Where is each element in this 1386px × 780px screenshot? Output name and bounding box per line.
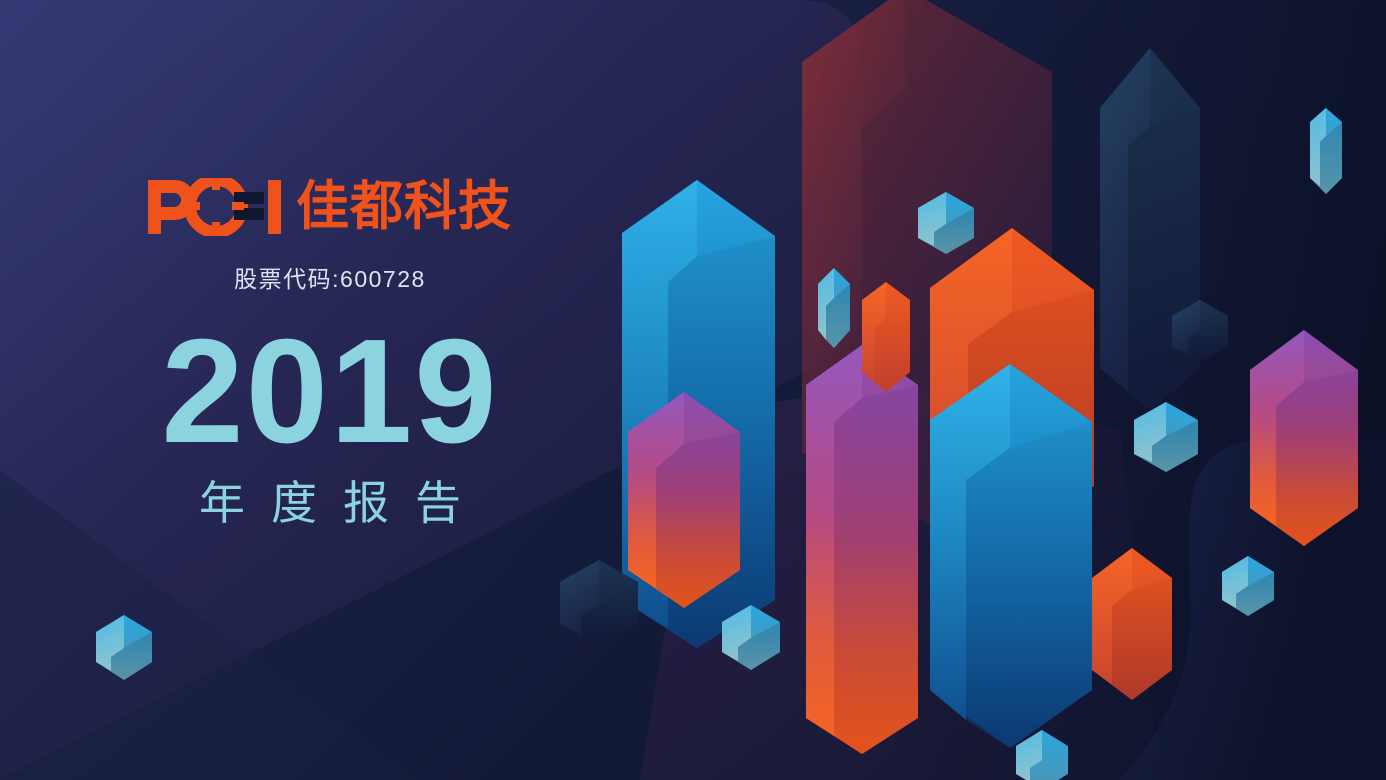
report-year: 2019 — [0, 316, 660, 468]
cover-text-block: 佳都科技 股票代码:600728 2019 年度报告 — [0, 176, 660, 530]
hex-prism-purple-orange-2 — [806, 345, 918, 754]
brand-logo: 佳都科技 — [0, 176, 660, 238]
hex-prism-navy-dark-tall — [1100, 48, 1200, 410]
hex-cube-cyan-mid — [1134, 402, 1198, 472]
annual-report-cover: 佳都科技 股票代码:600728 2019 年度报告 — [0, 0, 1386, 780]
hex-prism-orange-short — [1092, 548, 1172, 700]
hex-prism-purple-orange-3 — [1250, 330, 1358, 546]
hex-prism-slim-cyan-right — [1310, 108, 1342, 194]
pci-crosshair-logo-icon — [148, 178, 282, 236]
hex-cube-cyan-bottom — [1222, 556, 1274, 616]
brand-name-cn: 佳都科技 — [296, 179, 512, 235]
stock-code-label: 股票代码:600728 — [0, 260, 660, 294]
hex-prism-blue-large — [930, 364, 1092, 748]
hex-cube-cyan-corner — [96, 615, 152, 680]
report-subtitle: 年度报告 — [0, 476, 660, 530]
hex-prism-orange-mid — [862, 282, 910, 392]
